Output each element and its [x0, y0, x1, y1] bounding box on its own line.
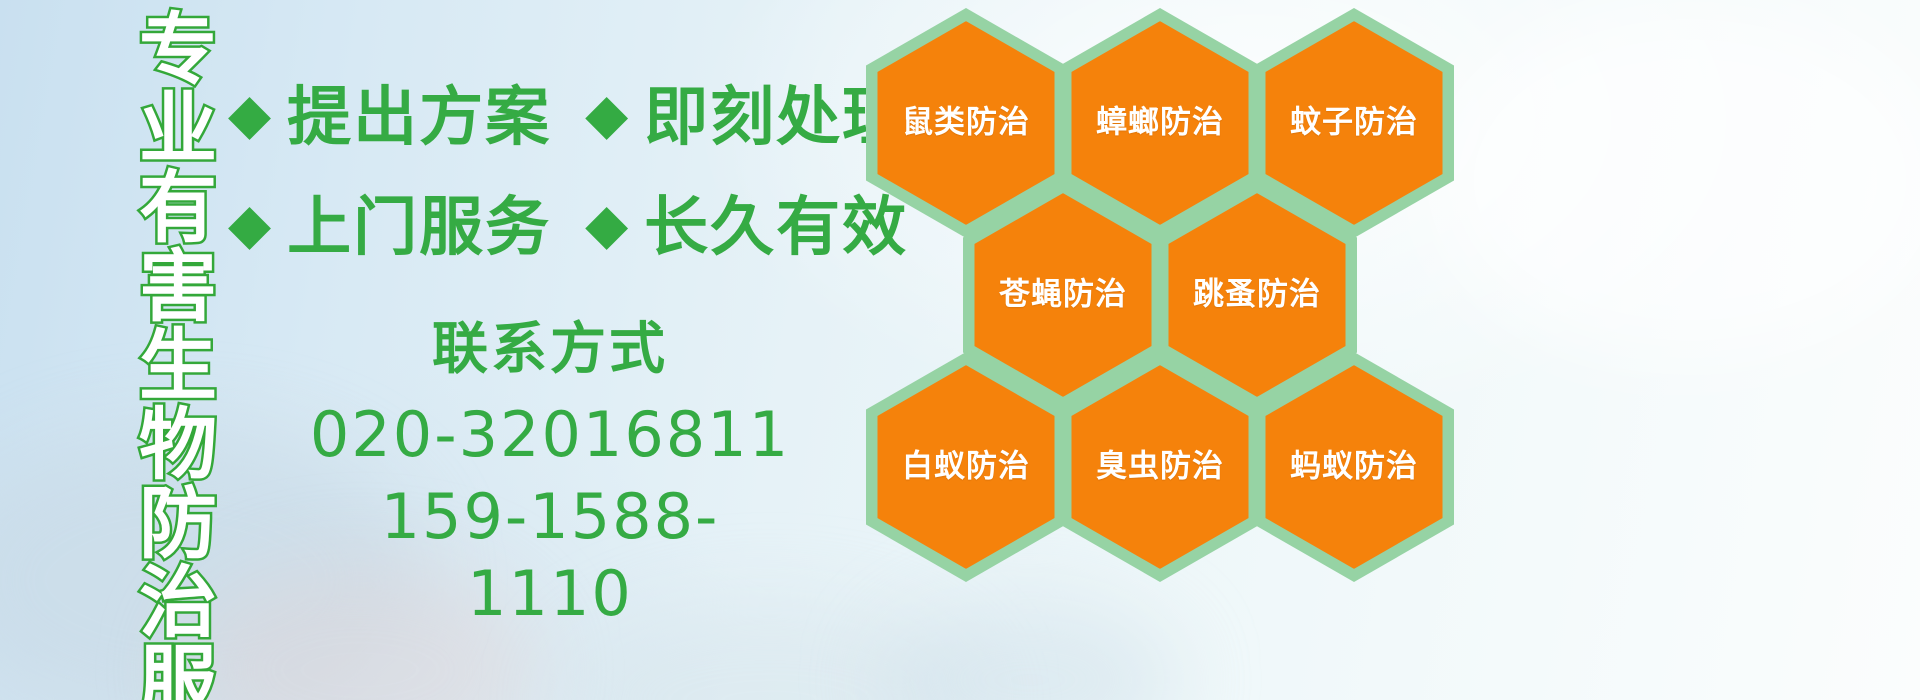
service-honeycomb: 鼠类防治 蟑螂防治 蚊子防治 苍蝇防治 跳蚤防治 白蚁防治: [0, 0, 1920, 700]
service-label: 蟑螂防治: [1060, 108, 1260, 139]
service-label: 蚊子防治: [1254, 108, 1454, 139]
service-label: 臭虫防治: [1060, 452, 1260, 483]
service-label: 白蚁防治: [866, 452, 1066, 483]
service-label: 鼠类防治: [866, 108, 1066, 139]
service-hexagon-ant[interactable]: 蚂蚁防治: [1254, 352, 1454, 582]
service-label: 蚂蚁防治: [1254, 452, 1454, 483]
promotional-banner: 专业有害生物防治服务 ◆ 提出方案 ◆ 即刻处理 ◆ 上门服务 ◆ 长久有效 联…: [0, 0, 1920, 700]
service-label: 苍蝇防治: [963, 280, 1163, 311]
service-hexagon-bedbug[interactable]: 臭虫防治: [1060, 352, 1260, 582]
service-hexagon-termite[interactable]: 白蚁防治: [866, 352, 1066, 582]
service-label: 跳蚤防治: [1157, 280, 1357, 311]
